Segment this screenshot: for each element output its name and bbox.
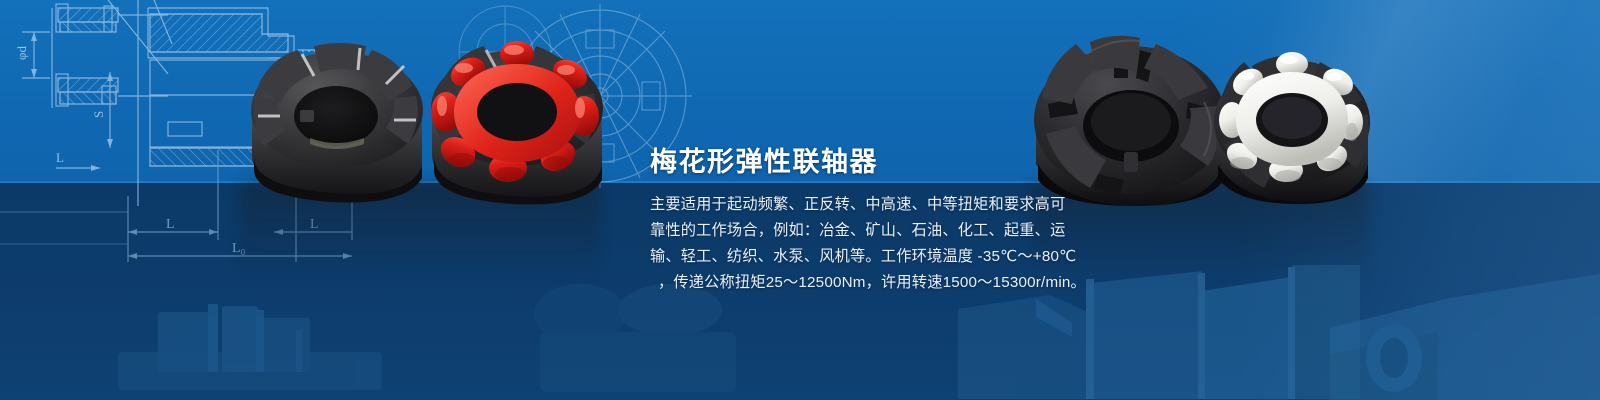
coupling-left-red-spider (431, 41, 603, 205)
description-line-4: ，传递公称扭矩25～12500Nm，许用转速1500～15300r/min。 (650, 270, 1054, 296)
watermark-machine-far-right (1330, 250, 1600, 400)
product-image-coupling-black-white (1028, 14, 1370, 206)
coupling-right-white-spider (1214, 52, 1370, 204)
banner-title: 梅花形弹性联轴器 (650, 140, 878, 179)
coupling-left-black-hub (251, 43, 423, 203)
description-line-3: 输、轻工、纺织、水泵、风机等。工作环境温度 -35℃～+80℃ (650, 244, 1054, 270)
product-banner: φd S D L L L₀ L (0, 0, 1600, 400)
blueprint-label-phi-d: φd (14, 45, 29, 60)
product-image-coupling-black-red (236, 16, 608, 206)
banner-description: 主要适用于起动频繁、正反转、中高速、中等扭矩和要求高可 靠性的工作场合，例如：冶… (650, 192, 1054, 296)
watermark-machine-left (100, 290, 400, 400)
blueprint-label-L-top: L (56, 150, 64, 165)
description-line-1: 主要适用于起动频繁、正反转、中高速、中等扭矩和要求高可 (650, 192, 1054, 218)
blueprint-label-L: L (166, 217, 175, 232)
description-line-2: 靠性的工作场合，例如：冶金、矿山、石油、化工、起重、运 (650, 218, 1054, 244)
coupling-right-black-hub (1034, 36, 1226, 206)
watermark-machine-mid (520, 280, 760, 400)
blueprint-label-s: S (91, 111, 106, 118)
